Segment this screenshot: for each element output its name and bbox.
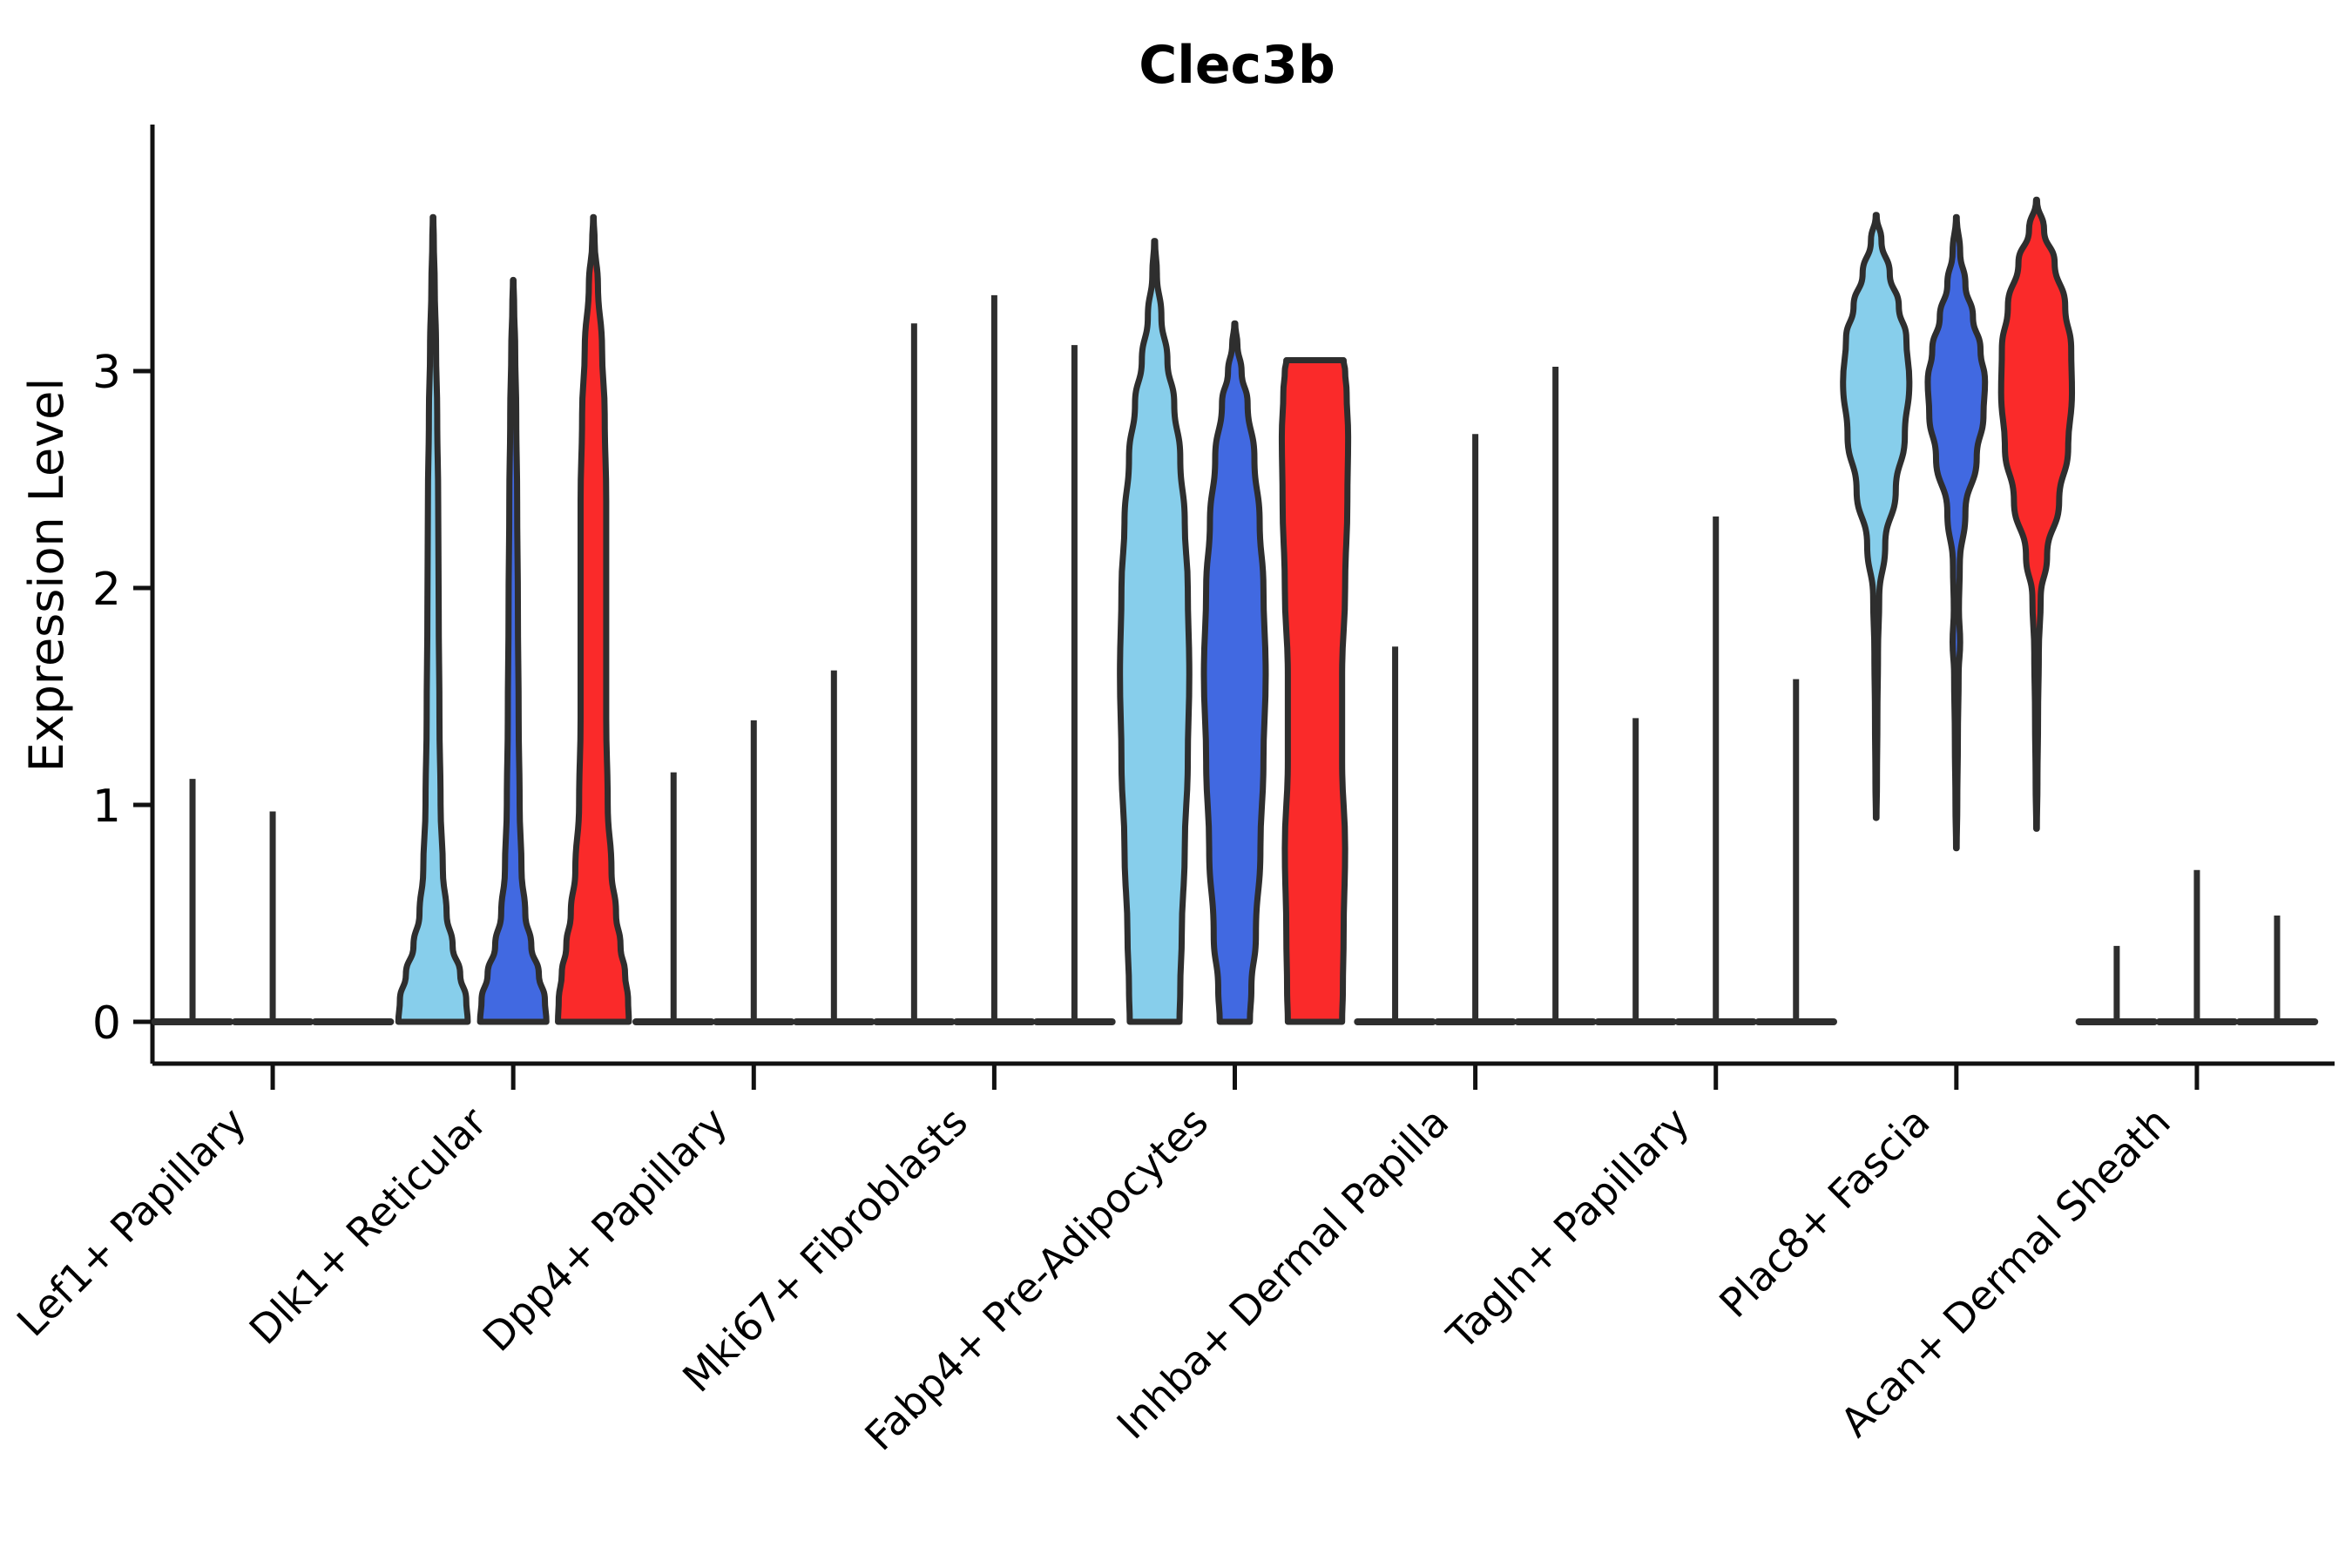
y-tick-label: 1 [92, 781, 121, 833]
y-tick-label: 3 [92, 347, 121, 399]
violin-body [1281, 361, 1348, 1022]
violin [1281, 361, 1348, 1022]
y-tick-label: 0 [92, 997, 121, 1050]
violin-plot-figure: Clec3b Expression Level 0123 Lef1+ Papil… [0, 0, 2352, 1568]
chart-canvas: Clec3b Expression Level 0123 Lef1+ Papil… [0, 0, 2352, 1568]
y-tick-label: 2 [92, 564, 121, 616]
y-axis-label: Expression Level [19, 378, 74, 773]
page-title: Clec3b [1139, 35, 1335, 96]
